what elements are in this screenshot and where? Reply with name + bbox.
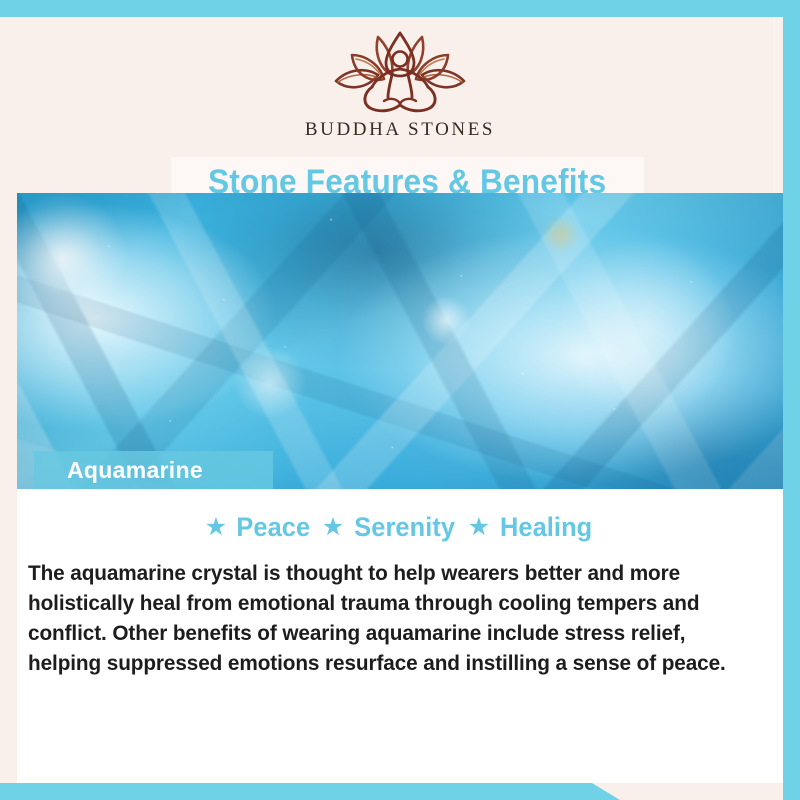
star-icon: ★ [322, 515, 344, 540]
footer-accent-band [0, 783, 620, 800]
crystal-photo-art [17, 193, 783, 489]
lotus-meditation-icon [322, 29, 478, 115]
stone-name-tag: Aquamarine [34, 451, 273, 489]
brand-name: BUDDHA STONES [305, 119, 495, 141]
keyword-serenity: ★ Serenity [322, 512, 459, 543]
keyword-peace: ★ Peace [205, 512, 313, 543]
brand-logo: BUDDHA STONES [17, 29, 783, 141]
stone-name-label: Aquamarine [67, 457, 203, 484]
keyword-label: Peace [237, 512, 311, 543]
keyword-label: Serenity [354, 512, 455, 543]
description-paragraph: The aquamarine crystal is thought to hel… [28, 558, 752, 678]
keyword-list: ★ Peace ★ Serenity ★ Healing [17, 512, 783, 543]
keyword-label: Healing [500, 512, 592, 543]
header: BUDDHA STONES Stone Features & Benefits [17, 17, 783, 193]
keyword-healing: ★ Healing [468, 512, 596, 543]
hero-image: Aquamarine [17, 193, 783, 489]
star-icon: ★ [468, 515, 490, 540]
crystal-vignette-layer [17, 193, 783, 489]
poster-canvas: BUDDHA STONES Stone Features & Benefits … [0, 0, 800, 800]
star-icon: ★ [205, 515, 227, 540]
